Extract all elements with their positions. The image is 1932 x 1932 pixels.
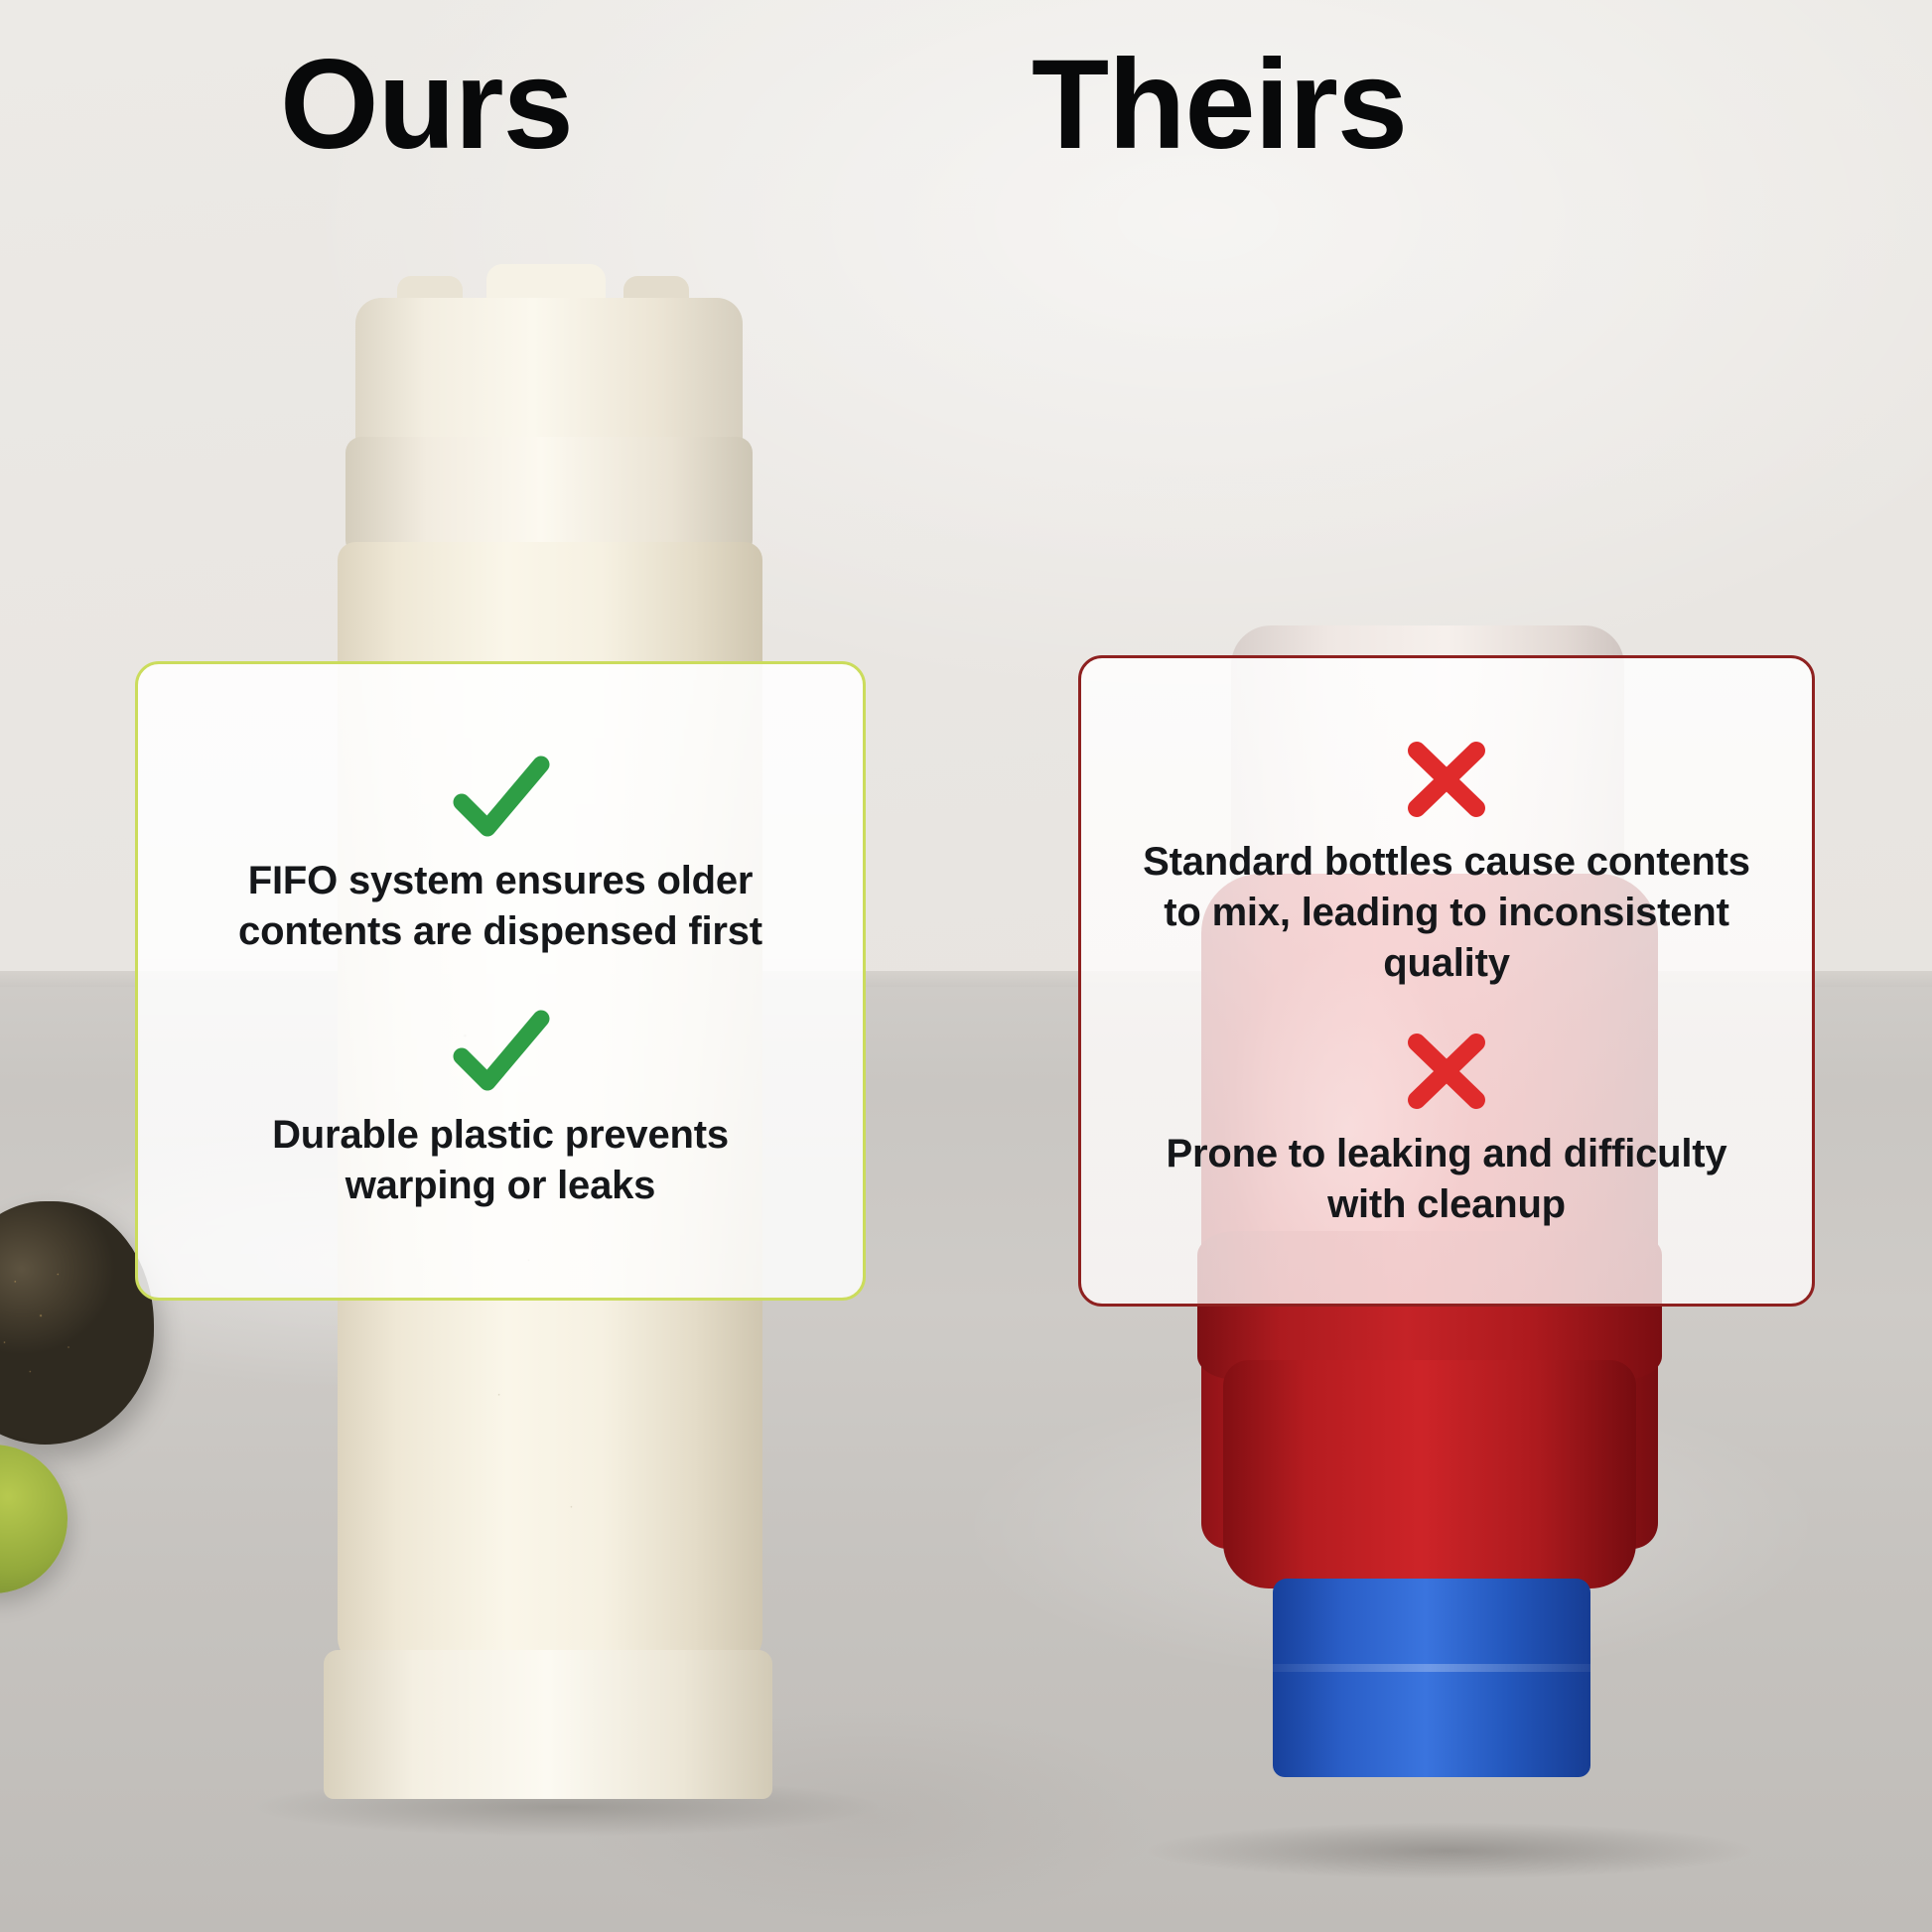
check-icon: [446, 751, 555, 846]
theirs-feature-1: Standard bottles cause contents to mix, …: [1107, 732, 1786, 990]
check-icon: [446, 1005, 555, 1100]
ours-feature-1: FIFO system ensures older contents are d…: [164, 751, 837, 957]
comparison-graphic: Ours Theirs FIFO system ensures older co…: [0, 0, 1932, 1932]
heading-theirs: Theirs: [1032, 42, 1407, 169]
cross-icon: [1399, 732, 1494, 827]
ours-feature-2-text: Durable plastic prevents warping or leak…: [203, 1110, 798, 1211]
right-bottle-cap-seam: [1273, 1664, 1590, 1672]
theirs-feature-2-text: Prone to leaking and difficulty with cle…: [1139, 1129, 1754, 1230]
ours-feature-1-text: FIFO system ensures older contents are d…: [203, 856, 798, 957]
heading-ours: Ours: [280, 42, 573, 169]
theirs-feature-1-text: Standard bottles cause contents to mix, …: [1139, 837, 1754, 990]
theirs-feature-2: Prone to leaking and difficulty with cle…: [1107, 1024, 1786, 1230]
ours-card: FIFO system ensures older contents are d…: [135, 661, 866, 1301]
left-bottle-collar: [345, 437, 753, 556]
left-bottle-base: [324, 1650, 772, 1799]
ours-feature-2: Durable plastic prevents warping or leak…: [164, 1005, 837, 1211]
left-bottle-cap: [355, 298, 743, 447]
right-bottle-cap: [1273, 1579, 1590, 1777]
cross-icon: [1399, 1024, 1494, 1119]
theirs-card: Standard bottles cause contents to mix, …: [1078, 655, 1815, 1307]
right-bottle-shoulder: [1223, 1360, 1636, 1588]
